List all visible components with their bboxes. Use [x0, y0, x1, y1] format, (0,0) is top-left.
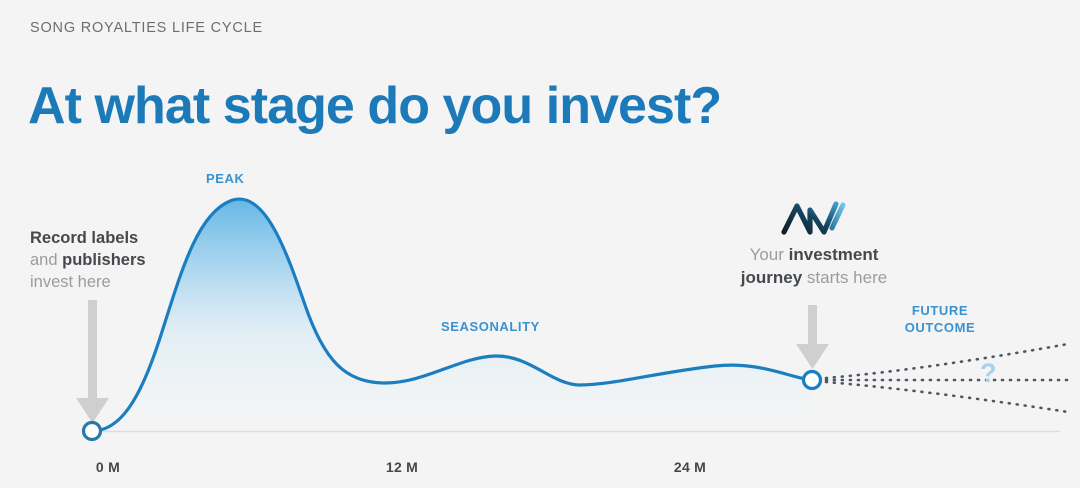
label-seasonality: SEASONALITY	[441, 319, 540, 334]
annot-right-line1-prefix: Your	[750, 245, 789, 264]
axis-tick-0: 0 M	[96, 459, 120, 475]
annot-left-line1: Record labels	[30, 229, 138, 247]
record-labels-annotation: Record labels and publishers invest here	[30, 228, 220, 294]
investment-point-marker	[804, 372, 821, 389]
investment-journey-arrow-icon	[796, 305, 829, 369]
question-mark-icon: ?	[980, 358, 997, 389]
start-point-marker	[84, 423, 101, 440]
label-future-line1: FUTURE	[880, 303, 1000, 320]
label-peak: PEAK	[206, 171, 244, 186]
annot-right-line2-bold: journey	[741, 268, 802, 287]
axis-tick-2: 24 M	[674, 459, 706, 475]
fan-line-lower	[826, 382, 1068, 412]
label-future-line2: OUTCOME	[880, 320, 1000, 337]
record-labels-arrow-icon	[76, 300, 109, 423]
annot-right-line1-bold: investment	[789, 245, 879, 264]
annot-left-line2-bold: publishers	[62, 251, 145, 269]
annot-left-line3: invest here	[30, 273, 111, 291]
arbor-logo-icon	[780, 198, 848, 236]
annot-right-line2-suffix: starts here	[802, 268, 887, 287]
infographic-root: SONG ROYALTIES LIFE CYCLE At what stage …	[0, 0, 1080, 488]
annot-left-line2-prefix: and	[30, 251, 62, 269]
axis-tick-1: 12 M	[386, 459, 418, 475]
future-outcome-fan	[826, 344, 1068, 412]
investment-journey-annotation: Your investment journey starts here	[700, 243, 928, 290]
label-future-outcome: FUTURE OUTCOME	[880, 303, 1000, 336]
fan-line-upper	[826, 344, 1068, 378]
